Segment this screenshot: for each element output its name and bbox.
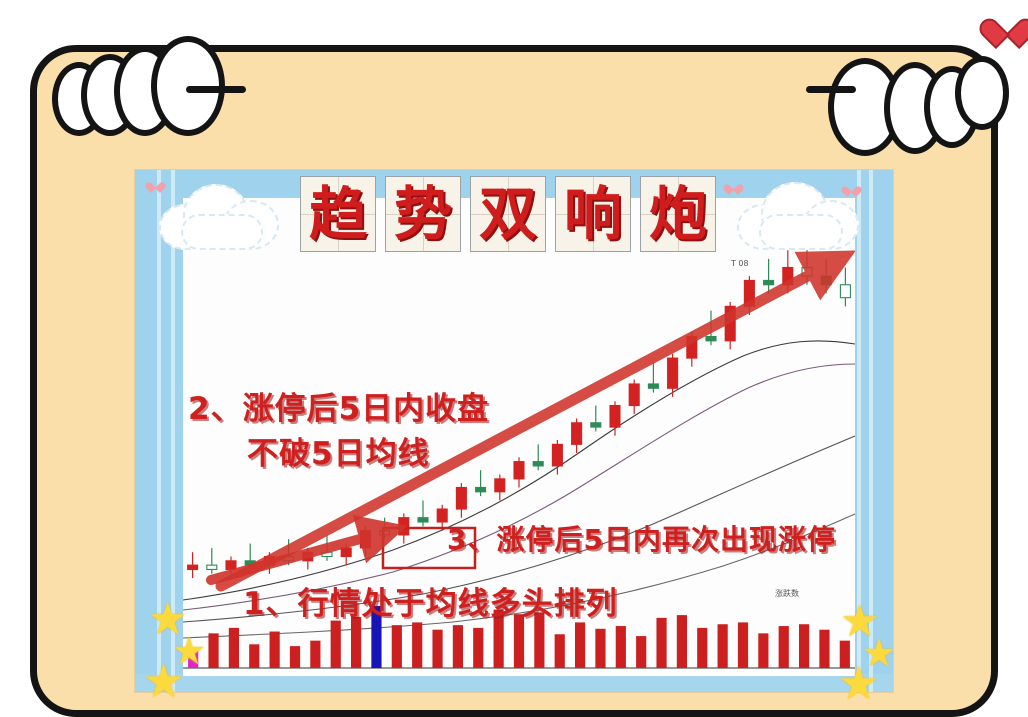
annotation-rule2-line1: 2、涨停后5日内收盘	[188, 383, 489, 428]
title-char: 响	[564, 185, 622, 243]
left-hand-icon	[48, 32, 233, 127]
star-icon: ★	[838, 660, 879, 706]
trend-arrow-short	[211, 536, 371, 580]
annotation-rule2-line2: 不破5日均线	[247, 428, 430, 473]
title-char-box: 响	[555, 176, 631, 252]
frame-bottom	[135, 674, 893, 692]
chart-corner-label: 涨跌数	[775, 588, 799, 598]
title-char: 趋	[309, 185, 367, 243]
chart-tick-label: T 08	[730, 259, 749, 268]
cloud-icon	[153, 180, 283, 248]
title-char-box: 炮	[640, 176, 716, 252]
title-char: 双	[479, 185, 537, 243]
heart-icon	[990, 6, 1022, 36]
title-char-box: 趋	[300, 176, 376, 252]
annotation-rule1: 1、行情处于均线多头排列	[243, 578, 618, 623]
title-boxes: 趋 势 双 响 炮	[300, 176, 716, 252]
title-char: 炮	[649, 185, 707, 243]
title-char-box: 势	[385, 176, 461, 252]
title-char: 势	[394, 185, 452, 243]
screenshot-root: T 08 涨跌数 趋 势 双 响 炮 2、涨停后5日内收盘 不破5日均	[0, 0, 1028, 715]
star-icon: ★	[143, 658, 184, 704]
right-hand-icon	[820, 32, 1005, 127]
cloud-icon	[733, 178, 861, 248]
title-char-box: 双	[470, 176, 546, 252]
annotation-rule3: 3、涨停后5日内再次出现涨停	[447, 518, 836, 558]
